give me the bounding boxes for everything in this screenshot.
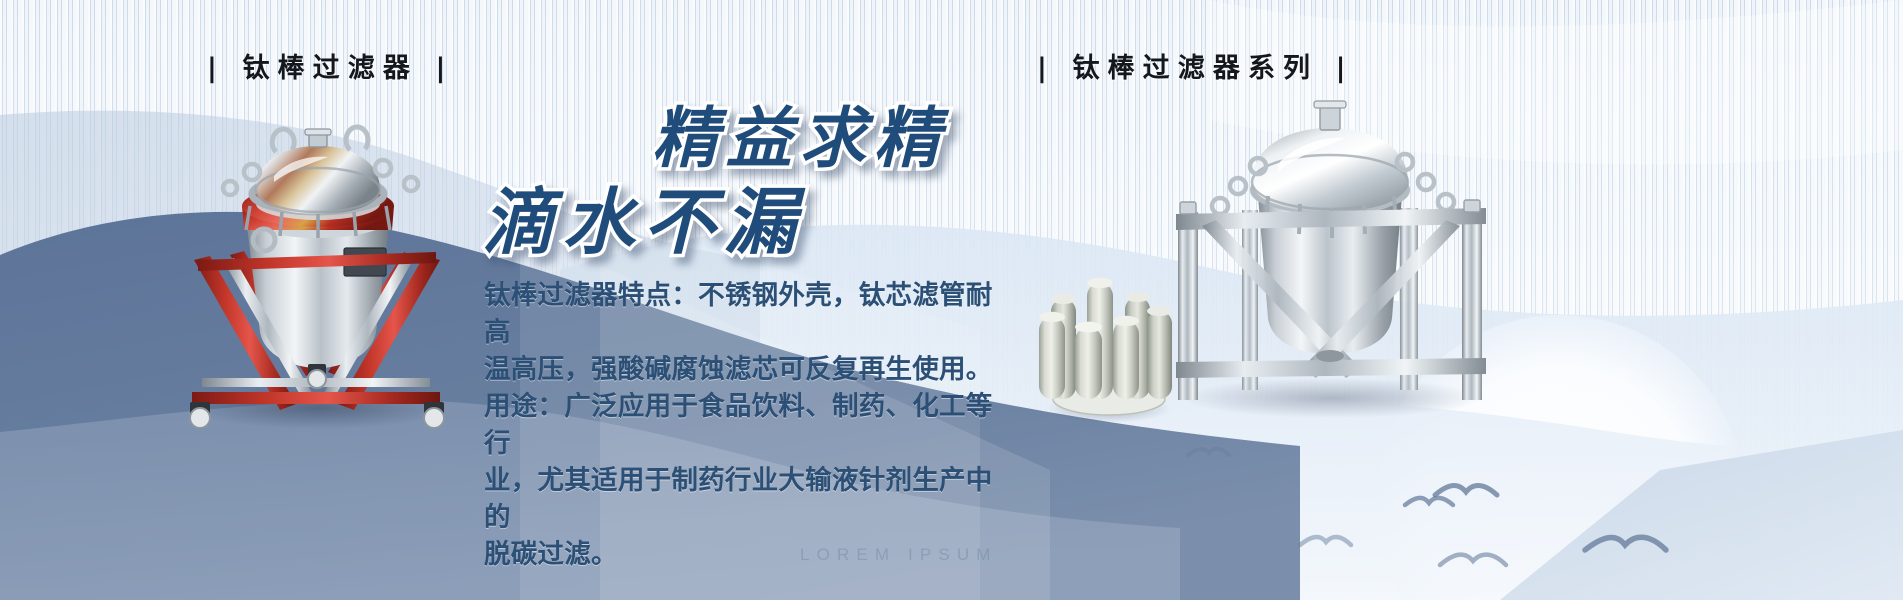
body-copy-line: 业，尤其适用于制药行业大输液针剂生产中的 xyxy=(484,462,1004,536)
product-image-left xyxy=(168,110,458,430)
section-title-right: | 钛棒过滤器系列 | xyxy=(1037,55,1354,82)
promo-banner: | 钛棒过滤器 | | 钛棒过滤器系列 | 精益求精 滴水不漏 钛棒过滤器特点：… xyxy=(0,0,1903,600)
product-image-right xyxy=(1150,90,1510,420)
body-copy-line: 钛棒过滤器特点：不锈钢外壳，钛芯滤管耐高 xyxy=(484,277,1004,351)
body-copy: 钛棒过滤器特点：不锈钢外壳，钛芯滤管耐高 温高压，强酸碱腐蚀滤芯可反复再生使用。… xyxy=(484,277,1004,573)
section-title-left: | 钛棒过滤器 | xyxy=(207,55,453,82)
watermark-text: LOREM IPSUM xyxy=(800,545,998,565)
headline-secondary: 滴水不漏 xyxy=(482,163,805,268)
body-copy-line: 温高压，强酸碱腐蚀滤芯可反复再生使用。 xyxy=(484,351,1004,388)
body-copy-line: 用途：广泛应用于食品饮料、制药、化工等行 xyxy=(484,388,1004,462)
